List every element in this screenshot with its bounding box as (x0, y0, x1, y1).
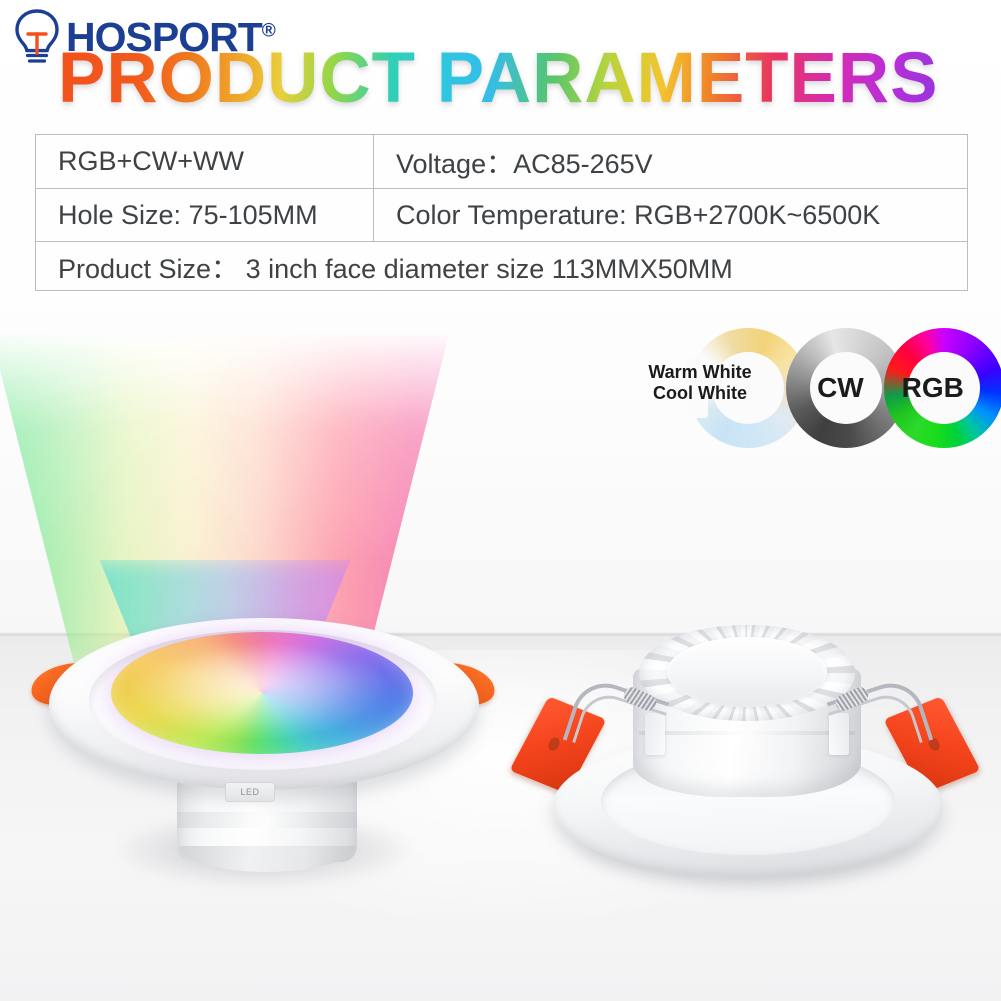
mode-badge: Warm White Cool White CW RGB (640, 318, 996, 458)
ring-label-rgb: RGB (902, 372, 964, 404)
spec-cell-voltage: Voltage：AC85-265V (374, 134, 968, 189)
table-row: Hole Size: 75-105MM Color Temperature: R… (35, 189, 968, 242)
ring-rgb: RGB (884, 328, 1001, 448)
product-downlight-front: LED (25, 600, 495, 890)
table-row: RGB+CW+WW Voltage：AC85-265V (35, 134, 968, 189)
light-face-glow (111, 632, 413, 754)
spec-cell-hole-size: Hole Size: 75-105MM (35, 189, 374, 242)
ring-label-cw: CW (817, 372, 864, 404)
housing-label: LED (225, 782, 275, 802)
heatsink-top (667, 637, 827, 707)
spec-cell-led-type: RGB+CW+WW (35, 134, 374, 189)
downlight-body-seam (639, 731, 855, 735)
table-row: Product Size： 3 inch face diameter size … (35, 242, 968, 291)
brand-logo: HOSPORT® (6, 6, 366, 68)
spec-cell-product-size: Product Size： 3 inch face diameter size … (35, 242, 968, 291)
product-parameters-poster: PRODUCT PARAMETERS HOSPORT® RGB+CW+WW Vo… (0, 0, 1001, 1001)
brand-name-text: HOSPORT (66, 14, 262, 60)
warm-cool-white-caption: Warm White Cool White (640, 362, 760, 404)
spec-table: RGB+CW+WW Voltage：AC85-265V Hole Size: 7… (35, 134, 968, 291)
caption-line-1: Warm White (640, 362, 760, 383)
registered-mark: ® (262, 20, 275, 41)
light-bulb-icon (6, 6, 68, 68)
product-downlight-rear (505, 595, 985, 895)
caption-line-2: Cool White (640, 383, 760, 404)
spec-cell-color-temperature: Color Temperature: RGB+2700K~6500K (374, 189, 968, 242)
downlight-housing-ring (177, 812, 357, 828)
brand-name: HOSPORT® (66, 14, 275, 61)
